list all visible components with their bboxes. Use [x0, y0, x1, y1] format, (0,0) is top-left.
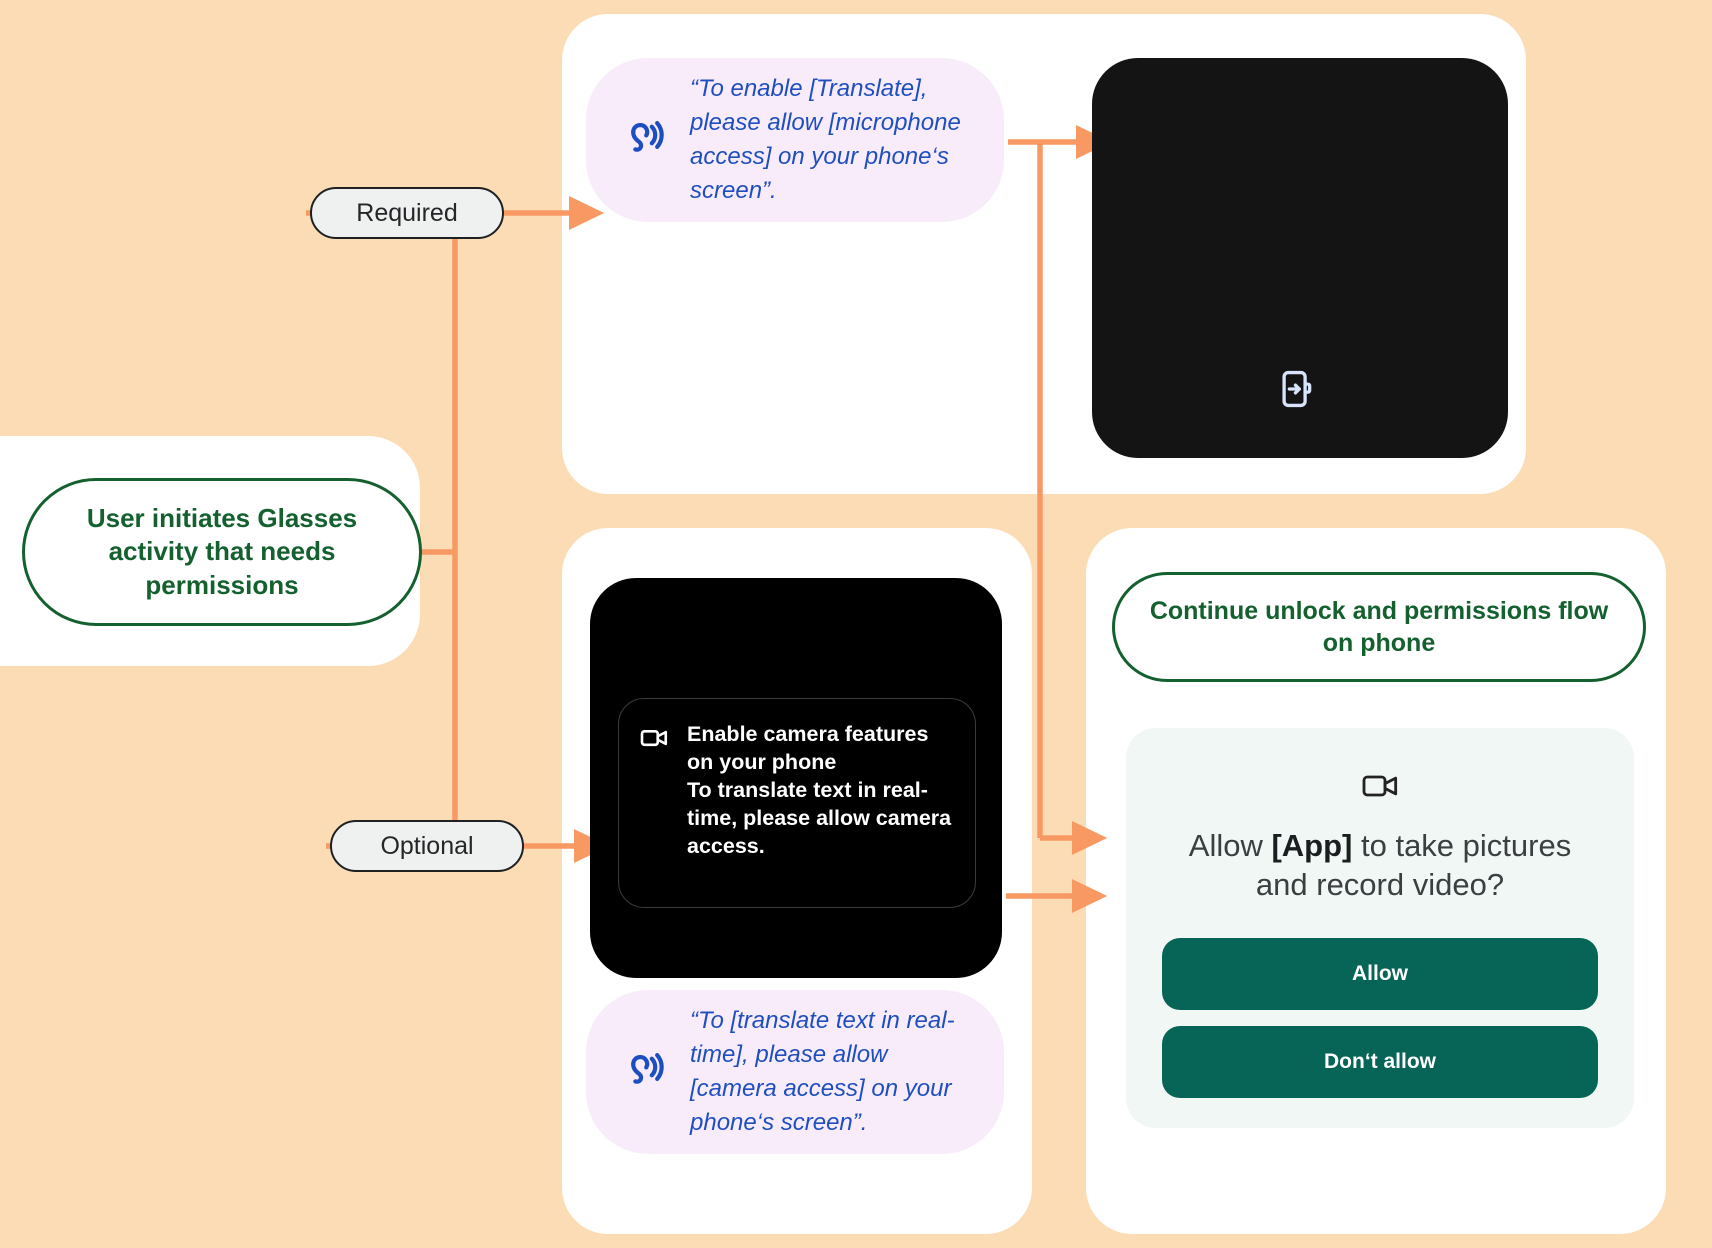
android-permission-dialog: Allow [App] to take pictures and record …	[1126, 728, 1634, 1128]
permission-question: Allow [App] to take pictures and record …	[1162, 826, 1598, 904]
branch-pill-required-label: Required	[356, 199, 457, 228]
node-start-label: User initiates Glasses activity that nee…	[55, 502, 389, 602]
speech-bubble-microphone: “To enable [Translate], please allow [mi…	[586, 58, 1004, 222]
allow-button[interactable]: Allow	[1162, 938, 1598, 1010]
diagram-canvas: User initiates Glasses activity that nee…	[0, 0, 1712, 1248]
ear-audio-icon	[620, 117, 666, 163]
node-continue-on-phone-label: Continue unlock and permissions flow on …	[1141, 595, 1617, 659]
speech-bubble-camera-text: “To [translate text in real-time], pleas…	[690, 1004, 970, 1140]
ear-audio-icon	[620, 1049, 666, 1095]
node-continue-on-phone[interactable]: Continue unlock and permissions flow on …	[1112, 572, 1646, 682]
speech-bubble-camera: “To [translate text in real-time], pleas…	[586, 990, 1004, 1154]
speech-bubble-microphone-text: “To enable [Translate], please allow [mi…	[690, 72, 970, 208]
glasses-camera-toast-text: Enable camera features on your phone To …	[687, 721, 955, 885]
branch-pill-optional[interactable]: Optional	[330, 820, 524, 872]
node-start[interactable]: User initiates Glasses activity that nee…	[22, 478, 422, 626]
allow-button-label: Allow	[1352, 962, 1408, 986]
camera-icon	[639, 723, 669, 753]
glasses-camera-toast: Enable camera features on your phone To …	[618, 698, 976, 908]
permission-question-app: [App]	[1271, 828, 1352, 863]
camera-icon	[1360, 766, 1400, 806]
glasses-camera-toast-body: To translate text in real-time, please a…	[687, 778, 951, 858]
glasses-camera-toast-heading: Enable camera features on your phone	[687, 722, 928, 774]
phone-unlock-icon	[1275, 368, 1317, 410]
branch-pill-required[interactable]: Required	[310, 187, 504, 239]
permission-question-prefix: Allow	[1189, 828, 1272, 863]
deny-button[interactable]: Don‘t allow	[1162, 1026, 1598, 1098]
deny-button-label: Don‘t allow	[1324, 1050, 1436, 1074]
branch-pill-optional-label: Optional	[380, 832, 473, 861]
